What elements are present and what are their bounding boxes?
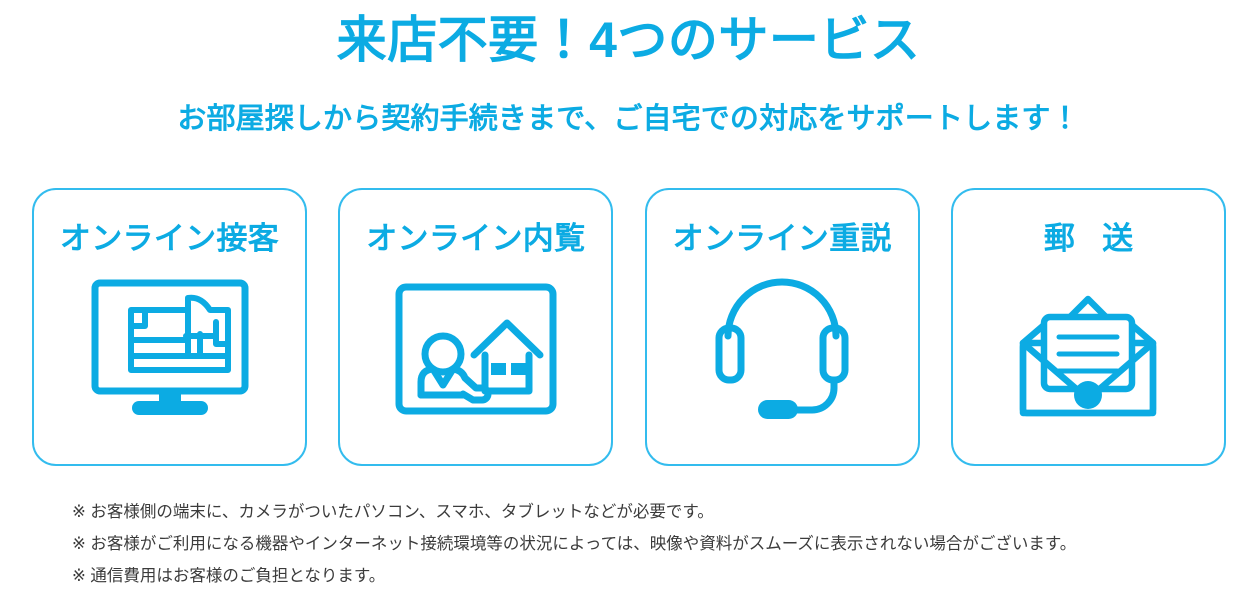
page-subtitle: お部屋探しから契約手続きまで、ご自宅での対応をサポートします！ [0, 101, 1257, 139]
monitor-floorplan-icon [85, 274, 255, 424]
service-card-online-viewing[interactable]: オンライン内覧 [338, 188, 613, 466]
service-card-online-consultation[interactable]: オンライン接客 [32, 188, 307, 466]
service-card-label: オンライン重説 [673, 223, 892, 254]
service-promo-banner: 来店不要！4つのサービス お部屋探しから契約手続きまで、ご自宅での対応をサポート… [0, 0, 1257, 599]
page-title: 来店不要！4つのサービス [0, 10, 1257, 71]
service-card-label: 郵 送 [1035, 223, 1143, 254]
service-card-label: オンライン内覧 [366, 223, 585, 254]
footnote-item: ※ お客様側の端末に、カメラがついたパソコン、スマホ、タブレットなどが必要です。 [72, 496, 1222, 528]
open-envelope-letter-icon [1003, 274, 1173, 424]
headset-icon [697, 274, 867, 424]
service-card-online-explanation[interactable]: オンライン重説 [645, 188, 920, 466]
footnote-item: ※ 通信費用はお客様のご負担となります。 [72, 560, 1222, 592]
footnote-item: ※ お客様がご利用になる機器やインターネット接続環境等の状況によっては、映像や資… [72, 528, 1222, 560]
screen-person-house-icon [391, 274, 561, 424]
footnote-list: ※ お客様側の端末に、カメラがついたパソコン、スマホ、タブレットなどが必要です。… [72, 496, 1222, 592]
service-card-postal-mail[interactable]: 郵 送 [951, 188, 1226, 466]
service-card-label: オンライン接客 [60, 223, 279, 254]
service-card-list: オンライン接客 [32, 188, 1226, 466]
